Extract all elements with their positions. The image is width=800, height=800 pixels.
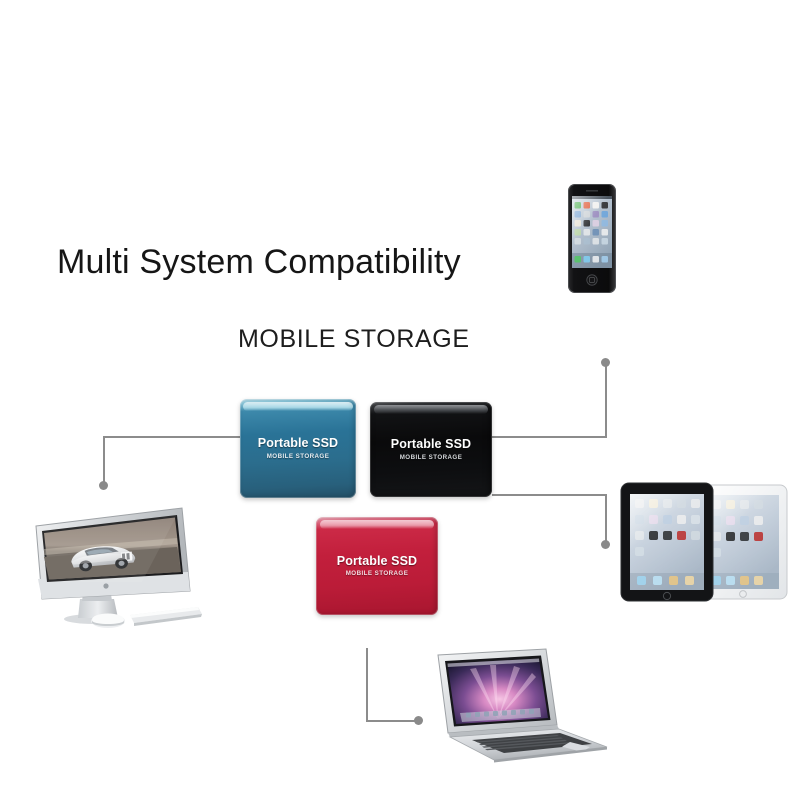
connector-imac-vertical: [103, 436, 105, 486]
ssd-blue-subtitle: MOBILE STORAGE: [267, 454, 330, 460]
ssd-blue-title: Portable SSD: [258, 437, 338, 450]
product-ssd-black[interactable]: Portable SSD MOBILE STORAGE: [370, 402, 492, 497]
laptop-icon: [424, 643, 614, 765]
connector-macbook-vertical: [366, 648, 368, 722]
smartphone-icon: [565, 183, 619, 294]
connector-ipads-endpoint-dot: [601, 540, 610, 549]
connector-iphone-horizontal: [492, 436, 607, 438]
ssd-red-subtitle: MOBILE STORAGE: [346, 571, 409, 577]
page-title: Multi System Compatibility: [57, 243, 461, 282]
connector-ipads-horizontal: [492, 494, 607, 496]
connector-iphone-vertical: [605, 366, 607, 438]
ssd-black-subtitle: MOBILE STORAGE: [400, 455, 463, 461]
ssd-black-gloss: [374, 405, 489, 414]
connector-macbook-horizontal: [366, 720, 419, 722]
compatibility-diagram: Multi System Compatibility MOBILE STORAG…: [0, 0, 800, 800]
connector-iphone-endpoint-dot: [601, 358, 610, 367]
ssd-red-title: Portable SSD: [337, 555, 417, 568]
page-subtitle: MOBILE STORAGE: [238, 325, 470, 354]
connector-imac-horizontal: [103, 436, 242, 438]
desktop-computer-icon: [22, 487, 207, 639]
ssd-black-title: Portable SSD: [391, 438, 471, 451]
product-ssd-red[interactable]: Portable SSD MOBILE STORAGE: [316, 517, 438, 615]
product-ssd-blue[interactable]: Portable SSD MOBILE STORAGE: [240, 399, 356, 498]
ssd-blue-gloss: [243, 402, 352, 411]
connector-ipads-vertical: [605, 494, 607, 542]
ssd-red-gloss: [320, 520, 435, 529]
connector-macbook-endpoint-dot: [414, 716, 423, 725]
tablets-icon: [613, 477, 793, 608]
